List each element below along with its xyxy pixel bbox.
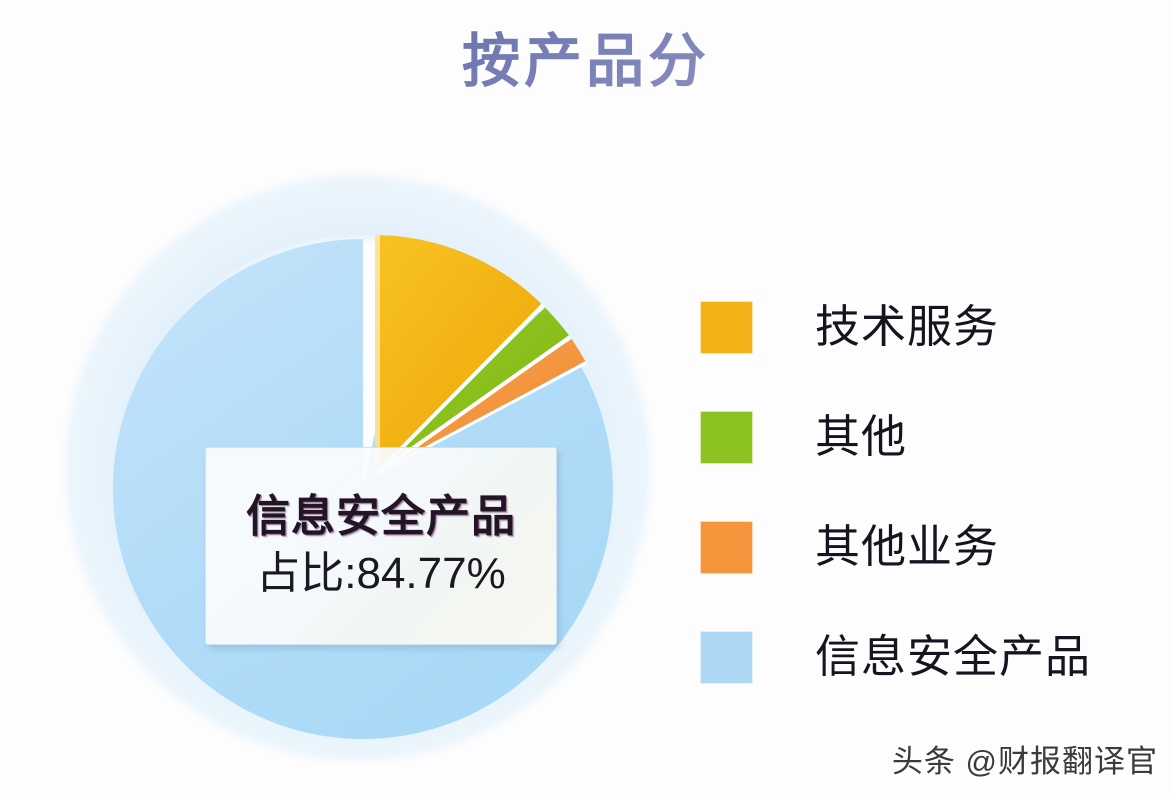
- watermark-credit: 头条 @财报翻译官: [892, 742, 1158, 782]
- legend-item-information-security-products[interactable]: 信息安全产品: [700, 602, 1130, 712]
- legend-label: 技术服务: [815, 301, 999, 353]
- legend-swatch-icon: [700, 631, 753, 684]
- pie-slice-technical-services-highlight: [375, 235, 380, 475]
- page-title: 按产品分: [0, 24, 1172, 100]
- chart-legend: 技术服务 其他 其他业务 信息安全产品: [700, 272, 1130, 712]
- legend-swatch-icon: [700, 411, 753, 464]
- pie-chart: 信息安全产品 占比:84.77%: [40, 150, 700, 790]
- legend-item-other-business[interactable]: 其他业务: [700, 492, 1130, 602]
- legend-label: 信息安全产品: [815, 631, 1091, 683]
- callout-percentage-value: 占比:84.77%: [256, 546, 505, 602]
- legend-item-technical-services[interactable]: 技术服务: [700, 272, 1130, 382]
- callout-series-name: 信息安全产品: [246, 490, 516, 544]
- legend-label: 其他: [815, 411, 907, 463]
- legend-item-other[interactable]: 其他: [700, 382, 1130, 492]
- legend-label: 其他业务: [815, 521, 999, 573]
- legend-swatch-icon: [700, 301, 753, 354]
- legend-swatch-icon: [700, 521, 753, 574]
- pie-callout-tooltip: 信息安全产品 占比:84.77%: [205, 447, 557, 645]
